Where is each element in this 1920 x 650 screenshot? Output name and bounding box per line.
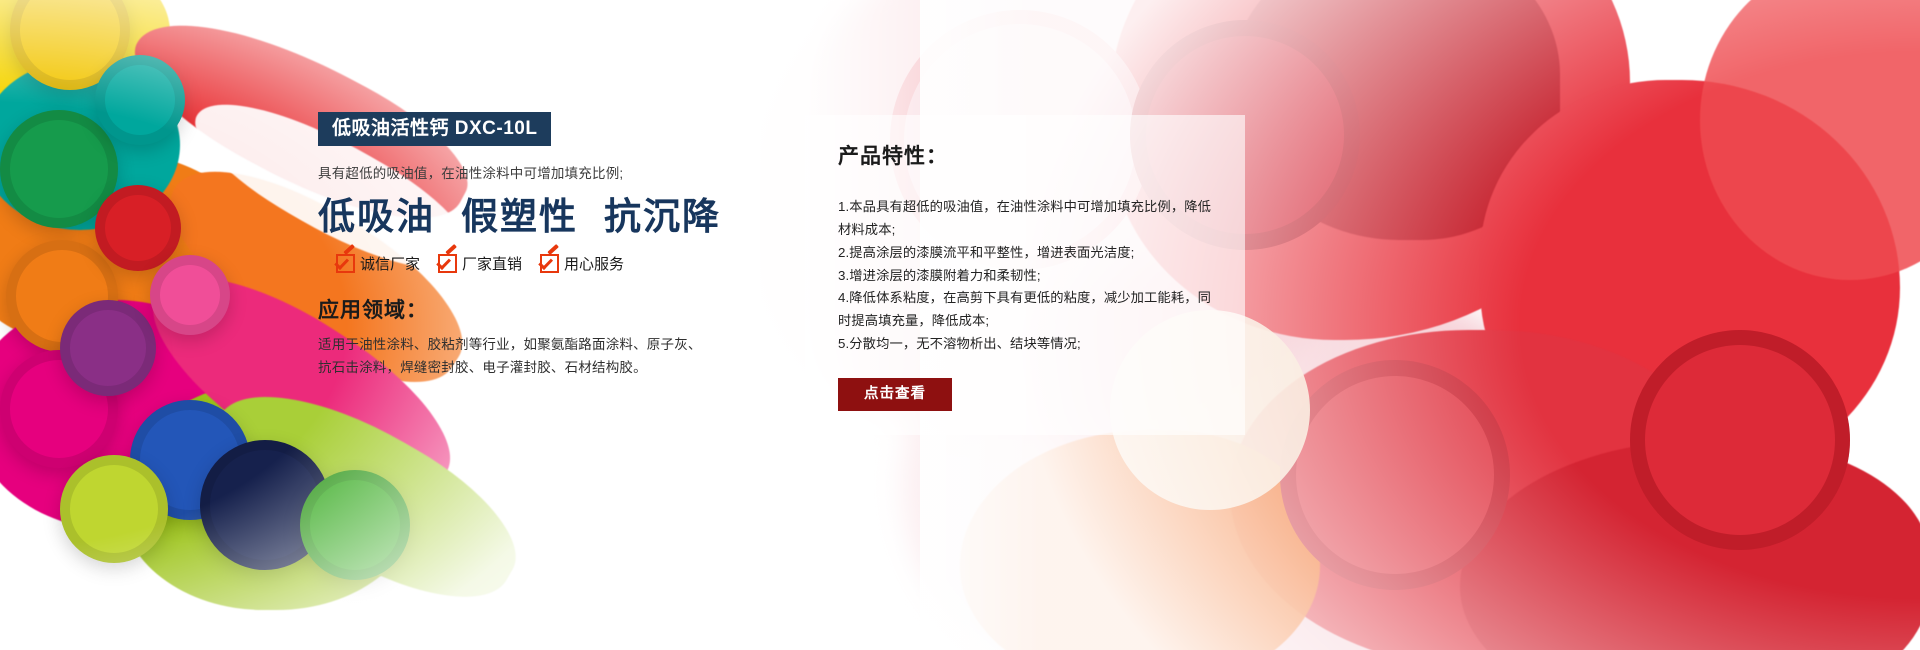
features-panel-title: 产品特性： bbox=[838, 140, 1238, 170]
headline-word-3: 抗沉降 bbox=[604, 194, 721, 238]
paint-pot-lime bbox=[60, 455, 168, 563]
paint-pot-pink bbox=[150, 255, 230, 335]
headline-keywords: 低吸油假塑性抗沉降 bbox=[318, 197, 718, 236]
features-list: 1.本品具有超低的吸油值，在油性涂料中可增加填充比例，降低材料成本; 2.提高涂… bbox=[838, 196, 1238, 356]
feature-item-3: 3.增进涂层的漆膜附着力和柔韧性; bbox=[838, 265, 1216, 288]
feature-item-2: 2.提高涂层的漆膜流平和平整性，增进表面光洁度; bbox=[838, 242, 1216, 265]
paint-dish-red-right bbox=[1630, 330, 1850, 550]
feature-item-5: 5.分散均一，无不溶物析出、结块等情况; bbox=[838, 333, 1216, 356]
feature-item-4: 4.降低体系粘度，在高剪下具有更低的粘度，减少加工能耗，同时提高填充量，降低成本… bbox=[838, 287, 1216, 333]
application-description: 适用于油性涂料、胶粘剂等行业，如聚氨酯路面涂料、原子灰、抗石击涂料，焊缝密封胶、… bbox=[318, 333, 710, 380]
paint-pot-violet bbox=[60, 300, 156, 396]
application-section-title: 应用领域： bbox=[318, 294, 718, 324]
promo-banner: 低吸油活性钙 DXC-10L 具有超低的吸油值，在油性涂料中可增加填充比例; 低… bbox=[0, 0, 1920, 650]
trust-badge-2-label: 厂家直销 bbox=[462, 253, 522, 274]
product-subtitle: 具有超低的吸油值，在油性涂料中可增加填充比例; bbox=[318, 165, 718, 184]
trust-badge-3: 用心服务 bbox=[540, 253, 624, 274]
feature-item-1: 1.本品具有超低的吸油值，在油性涂料中可增加填充比例，降低材料成本; bbox=[838, 196, 1216, 242]
product-title-badge: 低吸油活性钙 DXC-10L bbox=[318, 112, 551, 146]
paint-dish-red-bottom bbox=[1280, 360, 1510, 590]
check-box-icon bbox=[336, 254, 355, 273]
trust-badge-3-label: 用心服务 bbox=[564, 253, 624, 274]
paint-pot-green-2 bbox=[300, 470, 410, 580]
product-features-content: 产品特性： 1.本品具有超低的吸油值，在油性涂料中可增加填充比例，降低材料成本;… bbox=[838, 140, 1238, 411]
check-box-icon bbox=[540, 254, 559, 273]
trust-badge-1-label: 诚信厂家 bbox=[360, 253, 420, 274]
paint-pot-teal bbox=[95, 55, 185, 145]
trust-badge-row: 诚信厂家 厂家直销 用心服务 bbox=[318, 253, 718, 274]
check-box-icon bbox=[438, 254, 457, 273]
trust-badge-1: 诚信厂家 bbox=[336, 253, 420, 274]
headline-word-1: 低吸油 bbox=[318, 194, 435, 238]
trust-badge-2: 厂家直销 bbox=[438, 253, 522, 274]
headline-word-2: 假塑性 bbox=[461, 194, 578, 238]
paint-pot-red bbox=[95, 185, 181, 271]
left-content-column: 低吸油活性钙 DXC-10L 具有超低的吸油值，在油性涂料中可增加填充比例; 低… bbox=[318, 112, 718, 380]
view-details-button[interactable]: 点击查看 bbox=[838, 378, 952, 411]
